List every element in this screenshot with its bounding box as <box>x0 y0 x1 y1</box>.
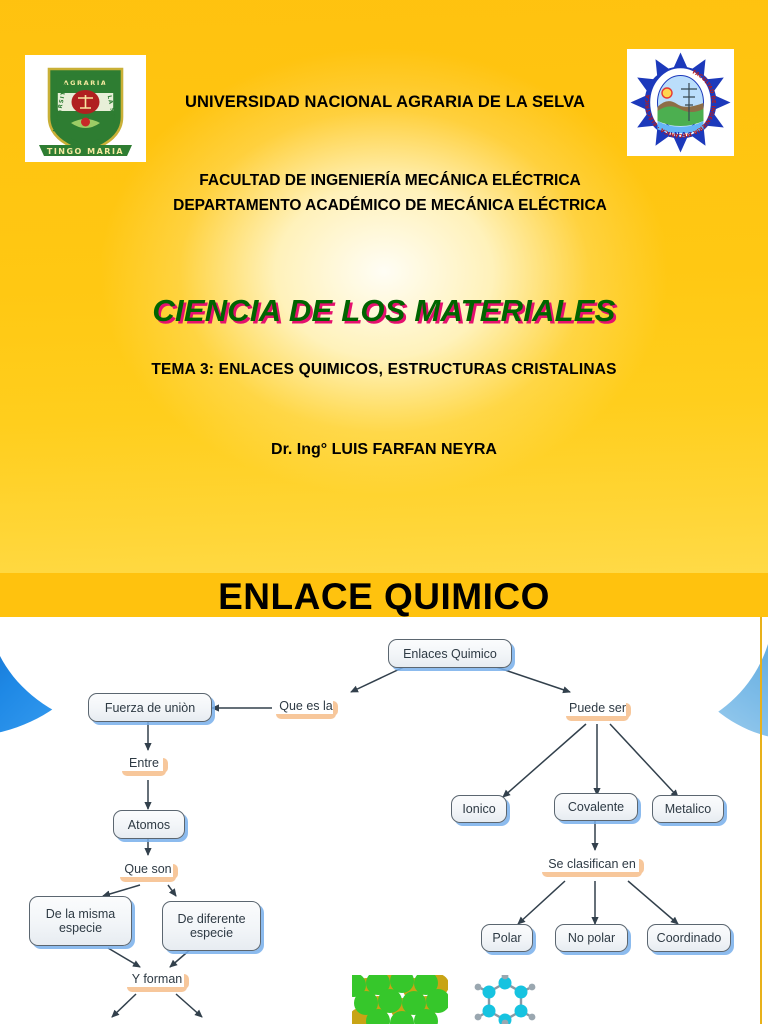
node-label: Ionico <box>462 802 495 816</box>
slide: AGRARIA UNIVERSITAS DE LA SELVA TINGO MA… <box>0 0 768 1024</box>
link-label-se-clasifican-en[interactable]: Se clasifican en <box>542 857 642 877</box>
node-atomos[interactable]: Atomos <box>113 810 185 839</box>
svg-text:AGRARIA: AGRARIA <box>63 79 107 87</box>
node-metalico[interactable]: Metalico <box>652 795 724 823</box>
node-label: Enlaces Quimico <box>403 647 497 661</box>
topic-subtitle: TEMA 3: ENLACES QUIMICOS, ESTRUCTURAS CR… <box>0 361 768 379</box>
svg-text:TINGO MARIA: TINGO MARIA <box>47 147 124 156</box>
link-label-entre[interactable]: Entre <box>122 756 166 776</box>
link-label-text: Puede ser <box>569 701 626 715</box>
node-covalente[interactable]: Covalente <box>554 793 638 821</box>
fime-gear-logo: UNAS FACULTAD DE INGENIERÍA MECÁNICA · E… <box>627 49 734 156</box>
link-label-text: Entre <box>129 756 159 770</box>
link-underline <box>276 714 336 719</box>
link-label-text: Que son <box>124 862 171 876</box>
node-ionico[interactable]: Ionico <box>451 795 507 823</box>
ionic-crystal-model <box>352 975 448 1024</box>
node-label: No polar <box>568 931 615 945</box>
link-label-text: Que es la <box>279 699 333 713</box>
node-de-diferente-especie[interactable]: De diferente especie <box>162 901 261 951</box>
link-underline <box>127 987 187 992</box>
node-label: Metalico <box>665 802 712 816</box>
unas-shield-logo: AGRARIA UNIVERSITAS DE LA SELVA TINGO MA… <box>25 55 146 162</box>
node-no-polar[interactable]: No polar <box>555 924 628 952</box>
author-name: Dr. Ing° LUIS FARFAN NEYRA <box>0 441 768 459</box>
link-label-que-es-la[interactable]: Que es la <box>276 699 336 719</box>
benzene-ring-model <box>470 975 540 1024</box>
node-enlaces-quimico[interactable]: Enlaces Quimico <box>388 639 512 668</box>
course-title: CIENCIA DE LOS MATERIALES <box>0 293 768 329</box>
node-label: Coordinado <box>657 931 722 945</box>
link-label-text: Se clasifican en <box>548 857 636 871</box>
node-label: Covalente <box>568 800 624 814</box>
link-label-puede-ser[interactable]: Puede ser <box>566 701 629 721</box>
node-label: Polar <box>492 931 521 945</box>
faculty-line-1: FACULTAD DE INGENIERÍA MECÁNICA ELÉCTRIC… <box>60 168 720 193</box>
node-de-la-misma-especie[interactable]: De la misma especie <box>29 896 132 946</box>
link-underline <box>122 771 166 776</box>
node-label: Atomos <box>128 818 170 832</box>
node-label: De la misma especie <box>38 907 123 935</box>
faculty-block: FACULTAD DE INGENIERÍA MECÁNICA ELÉCTRIC… <box>60 168 720 218</box>
node-coordinado[interactable]: Coordinado <box>647 924 731 952</box>
node-polar[interactable]: Polar <box>481 924 533 952</box>
university-name: UNIVERSIDAD NACIONAL AGRARIA DE LA SELVA <box>140 93 630 112</box>
link-underline <box>566 716 629 721</box>
section-title: ENLACE QUIMICO <box>0 578 768 615</box>
node-label: Fuerza de uniòn <box>105 701 195 715</box>
link-label-y-forman[interactable]: Y forman <box>127 972 187 992</box>
node-label: De diferente especie <box>171 912 252 940</box>
faculty-line-2: DEPARTAMENTO ACADÉMICO DE MECÁNICA ELÉCT… <box>60 193 720 218</box>
link-label-text: Y forman <box>132 972 183 986</box>
link-underline <box>542 872 642 877</box>
node-fuerza-de-union[interactable]: Fuerza de uniòn <box>88 693 212 722</box>
link-underline <box>120 877 176 882</box>
concept-map: Enlaces Quimico Fuerza de uniòn Atomos D… <box>0 617 768 1024</box>
link-label-que-son[interactable]: Que son <box>120 862 176 882</box>
